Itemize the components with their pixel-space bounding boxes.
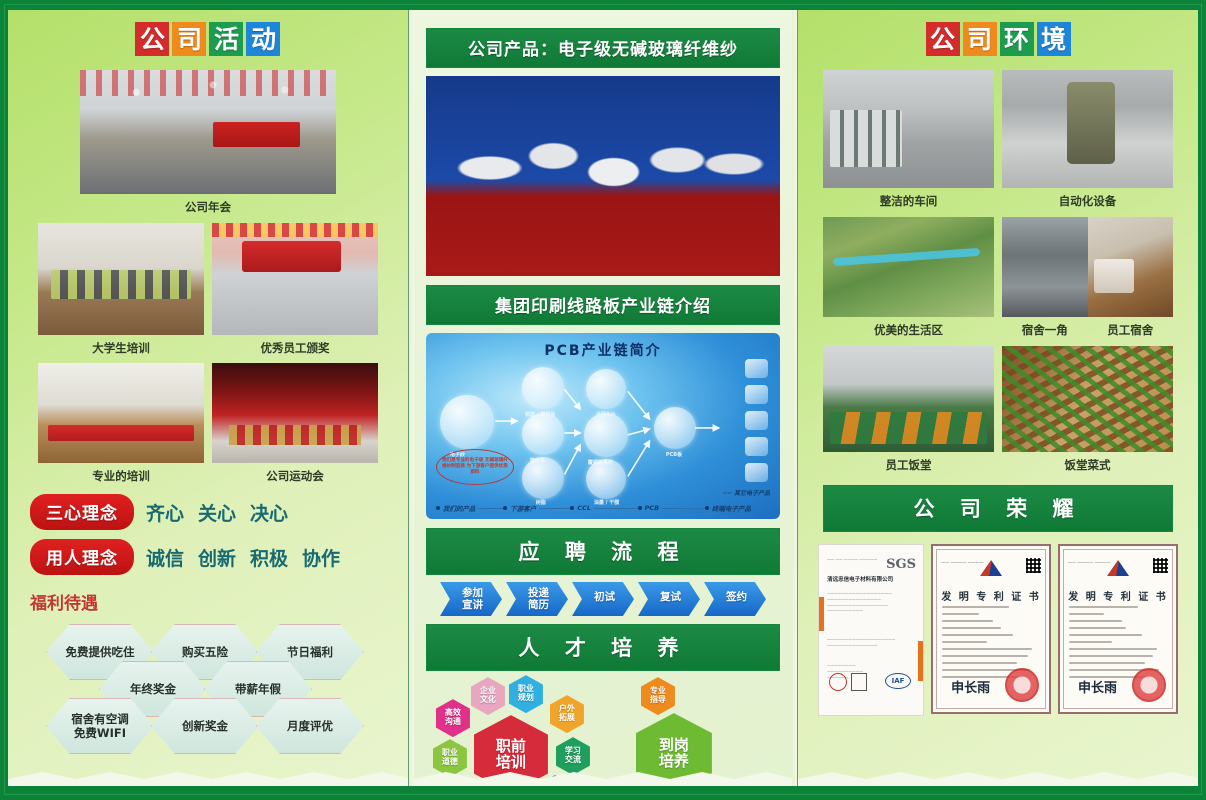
left-title-blocks: 公 司 活 动 [8,22,408,56]
pcb-foot-dot [570,506,574,510]
talent-node-comm: 高效沟通 [436,699,470,737]
pcb-device-laptop [745,437,768,456]
caption-canteen: 员工饭堂 [823,457,994,473]
pcb-foot-item-4: 终端电子产品 [705,503,772,513]
pcb-foot-line [478,508,503,509]
photo-staff-dorm [1088,217,1173,317]
sgs-body-lines-2: ————————————————————————————————— [827,637,895,649]
patent-signature-2: 申长雨 [1078,677,1117,696]
idea-row-three-hearts: 三心理念 齐心 关心 决心 [8,494,408,530]
sgs-company-name: 清远忠信电子材料有限公司 [827,575,893,583]
bar-talent-title: 人 才 培 养 [426,624,780,671]
pcb-foot-line [594,508,638,509]
photo-cell-food: 饭堂菜式 [1002,346,1173,473]
idea-value: 关心 [198,499,236,526]
pcb-foot-item-3: PCB [638,503,705,513]
panel-company-environment: 公 司 环 境 整洁的车间 自动化设备 优美的生活区 [798,10,1198,786]
brochure-poster: 公 司 活 动 公司年会 大学生培训 优秀员工颁奖 专业的培训 [0,0,1206,800]
caption-living-area: 优美的生活区 [823,322,994,338]
wave-divider-right [798,772,1198,786]
caption-dorm-corner: 宿舍一角 [1002,322,1087,338]
certificate-sgs: SGS —— —— ———— ————— 清远忠信电子材料有限公司 ——————… [818,544,924,716]
pcb-note-ellipse: 我们是专业的电子级 无碱玻璃纤维纱制造商 为下游客户提供优质 原料 [436,449,514,485]
sgs-orange-bar-right [918,641,923,681]
pcb-device-phone [745,359,768,378]
pcb-foot-label: PCB [645,504,660,512]
talent-node-culture: 企业文化 [471,677,505,715]
caption-food: 饭堂菜式 [1002,457,1173,473]
title-char-3: 动 [246,22,280,56]
caption-workshop: 整洁的车间 [823,193,994,209]
caption-employee-award: 优秀员工颁奖 [212,340,378,356]
idea-value: 决心 [250,499,288,526]
recruit-step-0[interactable]: 参加宣讲 [440,582,502,616]
iaf-label: IAF [892,677,905,685]
photo-annual-meeting [80,70,336,194]
title-char-1: 司 [172,22,206,56]
title-char-3: 境 [1037,22,1071,56]
photo-row-1: 大学生培训 优秀员工颁奖 [8,223,408,356]
caption-staff-dorm: 员工宿舍 [1088,322,1173,338]
patent-header-text: —— ———— ———— [1068,560,1111,566]
patent-qr-icon [1026,558,1041,573]
bar-recruitment-title: 应 聘 流 程 [426,528,780,575]
caption-professional-training: 专业的培训 [38,468,204,484]
photo-fiberglass-yarn [426,76,780,276]
fold-line-1 [408,10,409,786]
recruit-step-1[interactable]: 投递简历 [506,582,568,616]
patent-seal-1 [1005,668,1039,702]
wave-divider-mid [414,772,792,786]
photo-professional-training [38,363,204,463]
pcb-footer-axis: 我们的产品 下游客户 CCL PCB 终端电子产品 [436,503,772,513]
idea-value: 积极 [250,544,288,571]
pcb-device-camera [745,411,768,430]
title-char-0: 公 [135,22,169,56]
pcb-foot-item-1: 下游客户 [503,503,570,513]
env-photo-row-2: 优美的生活区 宿舍一角 员工宿舍 [798,217,1198,338]
pcb-device-monitor [745,385,768,404]
caption-sports-meeting: 公司运动会 [212,468,378,484]
bar-product-title: 公司产品：电子级无碱玻璃纤维纱 [426,28,780,68]
photo-cell-workshop: 整洁的车间 [823,70,994,209]
talent-node-learning: 学习交流 [556,737,590,775]
caption-annual-meeting: 公司年会 [80,199,336,215]
caption-student-training: 大学生培训 [38,340,204,356]
env-photo-row-1: 整洁的车间 自动化设备 [798,70,1198,209]
right-title-blocks: 公 司 环 境 [798,22,1198,56]
sgs-header-lines: —— —— ———— ————— [827,557,895,563]
photo-living-area [823,217,994,317]
certificate-row: SGS —— —— ———— ————— 清远忠信电子材料有限公司 ——————… [798,544,1198,716]
photo-cell-living-area: 优美的生活区 [823,217,994,338]
env-photo-row-3: 员工饭堂 饭堂菜式 [798,346,1198,473]
pcb-foot-dot [436,506,440,510]
idea-value: 齐心 [146,499,184,526]
panel-company-activities: 公 司 活 动 公司年会 大学生培训 优秀员工颁奖 专业的培训 [8,10,408,786]
welfare-hex-grid: 免费提供吃住 购买五险 节日福利 年终奖金 带薪年假 宿舍有空调免费WIFI 创… [8,620,408,750]
pcb-foot-dot [503,506,507,510]
pcb-foot-label: CCL [577,504,591,512]
title-char-2: 环 [1000,22,1034,56]
dorm-caption-pair: 宿舍一角 员工宿舍 [1002,317,1173,338]
pcb-foot-dot [638,506,642,510]
photo-row-2: 专业的培训 公司运动会 [8,363,408,484]
patent-seal-2 [1132,668,1166,702]
talent-node-guidance: 专业指导 [641,677,675,715]
photo-automation [1002,70,1173,188]
pcb-other-products-label: ···· 其它电子产品 [723,488,770,497]
accreditation-box-icon [851,673,867,691]
cnas-mark-icon [829,673,847,691]
title-char-0: 公 [926,22,960,56]
pcb-foot-line [662,508,705,509]
recruitment-flow: 参加宣讲 投递简历 初试 复试 签约 [424,582,782,616]
photo-cell-automation: 自动化设备 [1002,70,1173,209]
pcb-foot-label: 我们的产品 [443,503,476,513]
certificate-patent-1: —— ———— ———— 发 明 专 利 证 书 申长雨 [931,544,1051,714]
patent-header-text: —— ———— ———— [941,560,984,566]
talent-node-outdoor: 户外拓展 [550,695,584,733]
patent-title-1: 发 明 专 利 证 书 [933,588,1049,603]
title-char-2: 活 [209,22,243,56]
recruit-step-4[interactable]: 签约 [704,582,766,616]
photo-cell-professional-training: 专业的培训 [38,363,204,484]
patent-signature-1: 申长雨 [951,677,990,696]
pcb-foot-dot [705,506,709,510]
photo-cell-student-training: 大学生培训 [38,223,204,356]
photo-canteen [823,346,994,452]
pcb-chain-diagram: PCB产业链简介 电子纱 铜箔 / 覆铜板 玻纤布 树脂 半固化片 覆铜板基材 … [426,333,780,519]
idea-values-hiring: 诚信 创新 积极 协作 [146,544,340,571]
recruit-step-2[interactable]: 初试 [572,582,634,616]
pcb-foot-item-2: CCL [570,503,637,513]
photo-student-training [38,223,204,335]
idea-row-hiring: 用人理念 诚信 创新 积极 协作 [8,539,408,575]
photo-cell-sports-meeting: 公司运动会 [212,363,378,484]
photo-sports-meeting [212,363,378,463]
idea-label-three-hearts: 三心理念 [30,494,134,530]
bar-chain-title: 集团印刷线路板产业链介绍 [426,285,780,325]
title-char-1: 司 [963,22,997,56]
pcb-foot-label: 终端电子产品 [712,503,751,513]
photo-cell-employee-award: 优秀员工颁奖 [212,223,378,356]
patent-title-2: 发 明 专 利 证 书 [1060,588,1176,603]
idea-value: 协作 [302,544,340,571]
pcb-foot-line [539,508,570,509]
talent-development-diagram: 职前培训 到岗培养 企业文化 职业规划 高效沟通 户外拓展 职业道德 学习交流 … [414,675,792,786]
photo-dorm-corner [1002,217,1087,317]
idea-value: 诚信 [146,544,184,571]
photo-annual-meeting-wrap: 公司年会 [8,70,408,215]
talent-node-career: 职业规划 [509,675,543,713]
idea-values-three-hearts: 齐心 关心 决心 [146,499,288,526]
pcb-device-printer [745,463,768,482]
photo-cell-dorm-pair: 宿舍一角 员工宿舍 [1002,217,1173,338]
iaf-mark-icon: IAF [885,673,911,689]
idea-value: 创新 [198,544,236,571]
idea-label-hiring: 用人理念 [30,539,134,575]
certificate-patent-2: —— ———— ———— 发 明 专 利 证 书 申长雨 [1058,544,1178,714]
pcb-note-text: 我们是专业的电子级 无碱玻璃纤维纱制造商 为下游客户提供优质 原料 [441,458,509,477]
caption-automation: 自动化设备 [1002,193,1173,209]
dorm-pair [1002,217,1173,317]
wave-divider-left [8,772,408,786]
photo-workshop [823,70,994,188]
pcb-foot-label: 下游客户 [510,503,536,513]
photo-food [1002,346,1173,452]
photo-cell-canteen: 员工饭堂 [823,346,994,473]
pcb-foot-item-0: 我们的产品 [436,503,503,513]
welfare-heading: 福利待遇 [8,589,408,614]
sgs-orange-bar-left [819,597,824,631]
patent-qr-icon [1153,558,1168,573]
sgs-body-lines: ————————————————————————————————————————… [827,591,895,614]
recruit-step-3[interactable]: 复试 [638,582,700,616]
photo-employee-award [212,223,378,335]
panel-products: 公司产品：电子级无碱玻璃纤维纱 集团印刷线路板产业链介绍 PCB产业链简介 电子… [414,10,792,786]
bar-honor-title: 公 司 荣 耀 [823,485,1173,532]
